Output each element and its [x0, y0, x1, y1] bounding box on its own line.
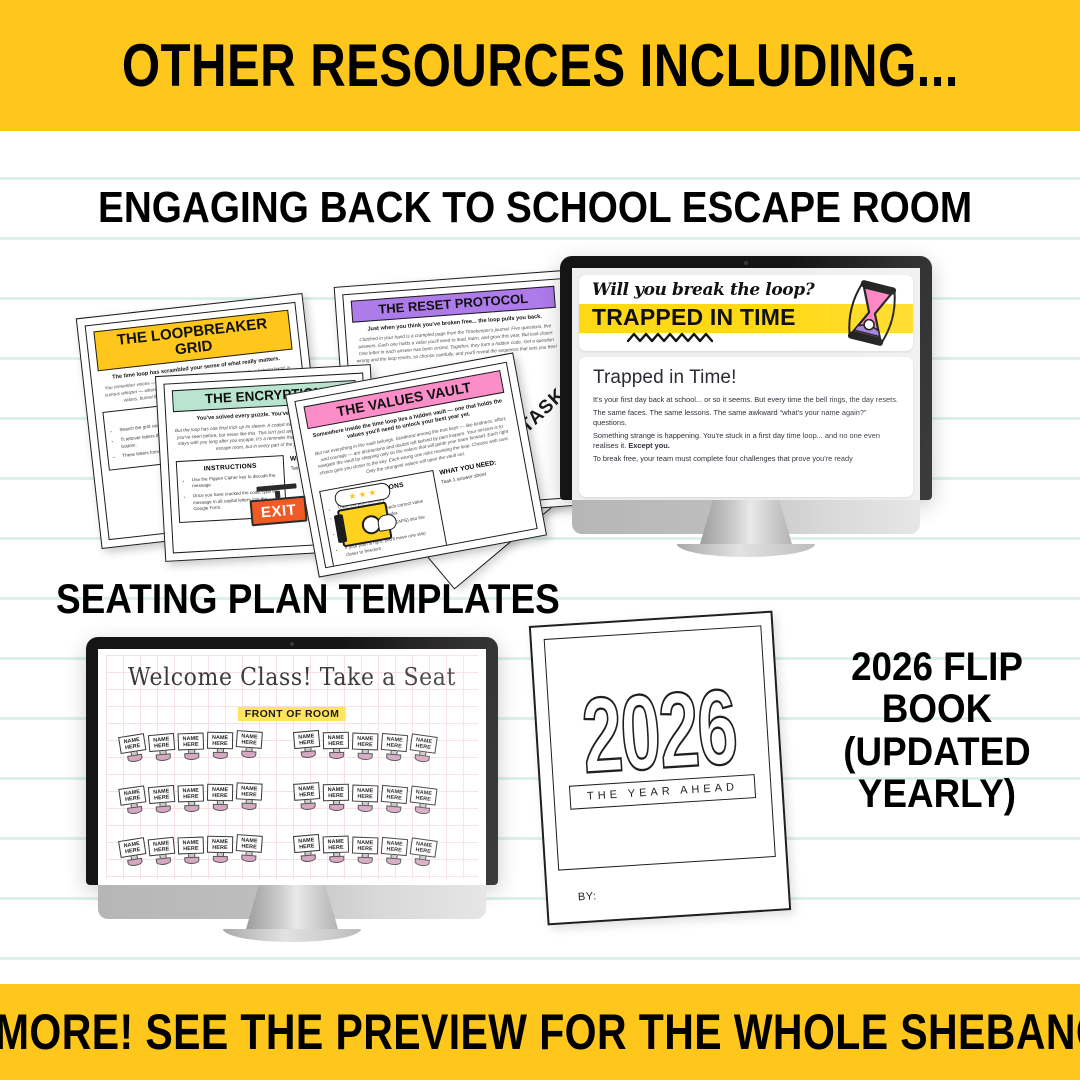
- desk-row: NAMEHERENAMEHERENAMEHERENAMEHERENAMEHERE: [120, 783, 263, 815]
- flip-book-year: 2026: [579, 680, 738, 783]
- name-plate[interactable]: NAMEHERE: [293, 730, 320, 749]
- chair-icon: [300, 750, 316, 758]
- student-desk[interactable]: NAMEHERE: [207, 836, 233, 864]
- student-desk[interactable]: NAMEHERE: [118, 837, 148, 868]
- name-plate[interactable]: NAMEHERE: [236, 782, 263, 800]
- slide-paragraph: Something strange is happening. You're s…: [593, 431, 899, 452]
- name-plate[interactable]: NAMEHERE: [410, 837, 438, 858]
- chair-icon: [241, 751, 256, 759]
- name-plate-line2: HERE: [183, 742, 199, 749]
- name-plate[interactable]: NAMEHERE: [178, 733, 205, 751]
- student-desk[interactable]: NAMEHERE: [380, 837, 408, 866]
- star-icon: ★: [368, 488, 378, 498]
- chair-icon: [155, 857, 171, 866]
- name-plate[interactable]: NAMEHERE: [207, 784, 233, 802]
- monitor-stand-neck: [700, 500, 792, 544]
- desk-row: NAMEHERENAMEHERENAMEHERENAMEHERENAMEHERE: [294, 835, 437, 867]
- name-plate-line2: HERE: [183, 846, 199, 853]
- student-desk[interactable]: NAMEHERE: [207, 784, 233, 812]
- name-plate-line2: HERE: [154, 794, 170, 801]
- name-plate[interactable]: NAMEHERE: [381, 733, 408, 752]
- name-plate[interactable]: NAMEHERE: [293, 834, 320, 853]
- student-desk[interactable]: NAMEHERE: [293, 834, 321, 863]
- flip-book-cover: 2026 THE YEAR AHEAD BY:: [529, 611, 791, 926]
- student-desk[interactable]: NAMEHERE: [408, 733, 438, 763]
- chair-icon: [300, 854, 316, 862]
- chair-icon: [385, 805, 401, 813]
- student-desk[interactable]: NAMEHERE: [352, 837, 379, 865]
- name-plate-line2: HERE: [154, 846, 170, 854]
- name-plate-line2: HERE: [154, 742, 170, 749]
- name-plate-line2: HERE: [415, 795, 431, 803]
- slide-header-card: Will you break the loop? TRAPPED IN TIME: [579, 275, 913, 351]
- escape-room-slide: Will you break the loop? TRAPPED IN TIME: [572, 268, 920, 500]
- student-desk[interactable]: NAMEHERE: [293, 730, 321, 759]
- name-plate-line2: HERE: [328, 741, 343, 747]
- squiggle-underline-icon: [627, 332, 713, 343]
- star-icon: ★: [348, 491, 358, 501]
- name-plate[interactable]: NAMEHERE: [148, 837, 176, 857]
- top-banner-text: OTHER RESOURCES INCLUDING...: [121, 36, 958, 96]
- student-desk[interactable]: NAMEHERE: [408, 786, 437, 816]
- name-plate-line2: HERE: [357, 742, 373, 749]
- name-plate[interactable]: NAMEHERE: [323, 836, 350, 854]
- slide-paragraph: It's your first day back at school... or…: [593, 395, 899, 406]
- slide-bold-phrase: Except you.: [628, 441, 669, 450]
- name-plate[interactable]: NAMEHERE: [352, 837, 379, 855]
- student-desk[interactable]: NAMEHERE: [148, 837, 177, 867]
- name-plate[interactable]: NAMEHERE: [236, 730, 263, 749]
- seating-plan-title: Welcome Class! Take a Seat: [98, 664, 486, 692]
- desk-row: NAMEHERENAMEHERENAMEHERENAMEHERENAMEHERE: [294, 783, 437, 815]
- name-plate[interactable]: NAMEHERE: [148, 733, 175, 752]
- chair-icon: [357, 753, 372, 761]
- name-plate[interactable]: NAMEHERE: [323, 784, 349, 802]
- safe-vault-icon: ★ ★ ★: [333, 482, 398, 548]
- student-desk[interactable]: NAMEHERE: [235, 782, 262, 810]
- hand-icon: [376, 513, 397, 532]
- chair-icon: [155, 805, 171, 813]
- chair-icon: [241, 803, 256, 811]
- chair-icon: [357, 857, 372, 865]
- exit-sign-icon: EXIT: [248, 483, 307, 527]
- chair-icon: [414, 806, 430, 815]
- monitor-screen: Welcome Class! Take a Seat FRONT OF ROOM…: [98, 649, 486, 885]
- name-plate-line2: HERE: [328, 845, 344, 852]
- student-desk[interactable]: NAMEHERE: [293, 782, 321, 811]
- name-plate[interactable]: NAMEHERE: [148, 785, 175, 804]
- chair-icon: [212, 856, 227, 863]
- name-plate[interactable]: NAMEHERE: [207, 732, 233, 750]
- webcam-icon: [744, 261, 748, 265]
- name-plate-line2: HERE: [183, 794, 199, 801]
- chair-icon: [184, 805, 199, 813]
- name-plate-line2: HERE: [299, 739, 315, 746]
- chair-icon: [329, 856, 344, 864]
- monitor-stand-foot: [677, 544, 815, 557]
- slide-title: TRAPPED IN TIME: [592, 305, 796, 330]
- flip-book-inner-frame: 2026 THE YEAR AHEAD: [544, 625, 776, 870]
- monitor-stand-neck: [246, 885, 338, 929]
- name-plate-line2: HERE: [386, 742, 402, 749]
- slide-body-card: Trapped in Time! It's your first day bac…: [579, 357, 913, 497]
- chair-icon: [127, 754, 143, 763]
- name-plate-line2: HERE: [415, 847, 431, 855]
- student-desk[interactable]: NAMEHERE: [408, 837, 438, 867]
- flip-book-by-label: BY:: [578, 890, 597, 903]
- name-plate-line2: HERE: [125, 795, 141, 803]
- name-plate[interactable]: NAMEHERE: [410, 786, 438, 806]
- student-desk[interactable]: NAMEHERE: [178, 733, 205, 761]
- top-banner: OTHER RESOURCES INCLUDING...: [0, 0, 1080, 131]
- name-plate[interactable]: NAMEHERE: [352, 733, 379, 751]
- name-plate[interactable]: NAMEHERE: [178, 837, 205, 855]
- student-desk[interactable]: NAMEHERE: [118, 733, 148, 764]
- student-desk[interactable]: NAMEHERE: [323, 732, 349, 760]
- monitor-screen: Will you break the loop? TRAPPED IN TIME: [572, 268, 920, 500]
- bottom-banner-text: + MORE! SEE THE PREVIEW FOR THE WHOLE SH…: [0, 1007, 1080, 1057]
- slide-body-heading: Trapped in Time!: [593, 367, 899, 389]
- name-plate[interactable]: NAMEHERE: [236, 834, 263, 853]
- monitor-bezel: Will you break the loop? TRAPPED IN TIME: [560, 256, 932, 500]
- student-desk[interactable]: NAMEHERE: [380, 733, 408, 762]
- name-plate-line2: HERE: [299, 791, 315, 798]
- name-plate-line2: HERE: [241, 792, 257, 799]
- student-desk[interactable]: NAMEHERE: [148, 785, 176, 814]
- student-desk[interactable]: NAMEHERE: [352, 733, 379, 761]
- chair-icon: [329, 804, 344, 811]
- name-plate[interactable]: NAMEHERE: [118, 733, 146, 754]
- name-plate-line2: HERE: [241, 739, 257, 746]
- monitor-stand-foot: [223, 929, 361, 942]
- name-plate-line2: HERE: [212, 741, 227, 747]
- name-plate-line2: HERE: [241, 843, 257, 850]
- chair-icon: [212, 752, 227, 759]
- star-icon: ★: [358, 490, 368, 500]
- instructions-title: INSTRUCTIONS: [183, 461, 277, 473]
- chair-icon: [385, 753, 401, 761]
- slide-paragraph: The same faces. The same lessons. The sa…: [593, 408, 899, 429]
- name-plate[interactable]: NAMEHERE: [207, 836, 233, 854]
- seating-plan-slide: Welcome Class! Take a Seat FRONT OF ROOM…: [98, 649, 486, 885]
- hourglass-icon: [841, 279, 903, 347]
- name-plate[interactable]: NAMEHERE: [352, 785, 379, 803]
- page-background: OTHER RESOURCES INCLUDING... ENGAGING BA…: [0, 0, 1080, 1080]
- chair-icon: [300, 803, 315, 811]
- chair-icon: [329, 752, 344, 759]
- chair-icon: [184, 753, 199, 761]
- chair-icon: [385, 857, 401, 865]
- student-desk[interactable]: NAMEHERE: [352, 785, 379, 813]
- monitor-bezel: Welcome Class! Take a Seat FRONT OF ROOM…: [86, 637, 498, 885]
- name-plate-line2: HERE: [415, 743, 431, 751]
- name-plate-line2: HERE: [125, 743, 141, 751]
- chair-icon: [127, 806, 143, 815]
- student-desk[interactable]: NAMEHERE: [148, 733, 176, 762]
- chair-icon: [212, 804, 227, 811]
- chair-icon: [155, 753, 171, 761]
- name-plate[interactable]: NAMEHERE: [410, 733, 438, 754]
- student-desk[interactable]: NAMEHERE: [118, 785, 148, 815]
- student-desk[interactable]: NAMEHERE: [235, 834, 263, 863]
- desk-row: NAMEHERENAMEHERENAMEHERENAMEHERENAMEHERE: [120, 731, 263, 763]
- worksheet-inner: THE VALUES VAULT Somewhere inside the ti…: [294, 362, 537, 569]
- student-desk[interactable]: NAMEHERE: [178, 837, 205, 865]
- heading-flip-book: 2026 FLIP BOOK (UPDATED YEARLY): [816, 646, 1057, 816]
- seating-plan-monitor: Welcome Class! Take a Seat FRONT OF ROOM…: [86, 637, 498, 942]
- name-plate-line2: HERE: [386, 846, 402, 853]
- bottom-banner: + MORE! SEE THE PREVIEW FOR THE WHOLE SH…: [0, 984, 1080, 1080]
- name-plate-line2: HERE: [299, 843, 315, 850]
- name-plate-line2: HERE: [125, 847, 141, 855]
- name-plate[interactable]: NAMEHERE: [381, 785, 408, 804]
- name-plate-line2: HERE: [212, 793, 227, 799]
- name-plate[interactable]: NAMEHERE: [381, 837, 408, 856]
- chair-icon: [357, 805, 372, 813]
- name-plate-line2: HERE: [328, 793, 343, 799]
- escape-room-monitor: Will you break the loop? TRAPPED IN TIME: [560, 256, 932, 557]
- name-plate[interactable]: NAMEHERE: [178, 785, 205, 803]
- front-of-room-badge: FRONT OF ROOM: [238, 707, 346, 721]
- chair-icon: [414, 754, 430, 763]
- slide-paragraph: To break free, your team must complete f…: [593, 454, 899, 465]
- name-plate[interactable]: NAMEHERE: [118, 837, 146, 858]
- name-plate-line2: HERE: [386, 794, 402, 801]
- student-desk[interactable]: NAMEHERE: [323, 784, 349, 812]
- slide-script-line: Will you break the loop?: [592, 280, 814, 300]
- chair-icon: [184, 857, 199, 865]
- chair-icon: [414, 858, 430, 867]
- student-desk[interactable]: NAMEHERE: [178, 785, 205, 813]
- heading-escape-room: ENGAGING BACK TO SCHOOL ESCAPE ROOM: [98, 186, 972, 230]
- student-desk[interactable]: NAMEHERE: [323, 836, 350, 864]
- webcam-icon: [290, 642, 294, 646]
- chair-icon: [127, 858, 143, 867]
- desk-row: NAMEHERENAMEHERENAMEHERENAMEHERENAMEHERE: [120, 835, 263, 867]
- name-plate-line2: HERE: [212, 845, 227, 851]
- student-desk[interactable]: NAMEHERE: [235, 730, 263, 759]
- student-desk[interactable]: NAMEHERE: [380, 785, 408, 814]
- desk-row: NAMEHERENAMEHERENAMEHERENAMEHERENAMEHERE: [294, 731, 437, 763]
- name-plate[interactable]: NAMEHERE: [118, 785, 146, 806]
- name-plate-line2: HERE: [357, 846, 373, 853]
- exit-sign-box: EXIT: [250, 496, 308, 527]
- name-plate[interactable]: NAMEHERE: [293, 782, 320, 801]
- student-desk[interactable]: NAMEHERE: [207, 732, 233, 760]
- name-plate[interactable]: NAMEHERE: [323, 732, 349, 750]
- chair-icon: [241, 855, 256, 863]
- name-plate-line2: HERE: [357, 794, 373, 801]
- heading-seating-plan: SEATING PLAN TEMPLATES: [56, 578, 560, 620]
